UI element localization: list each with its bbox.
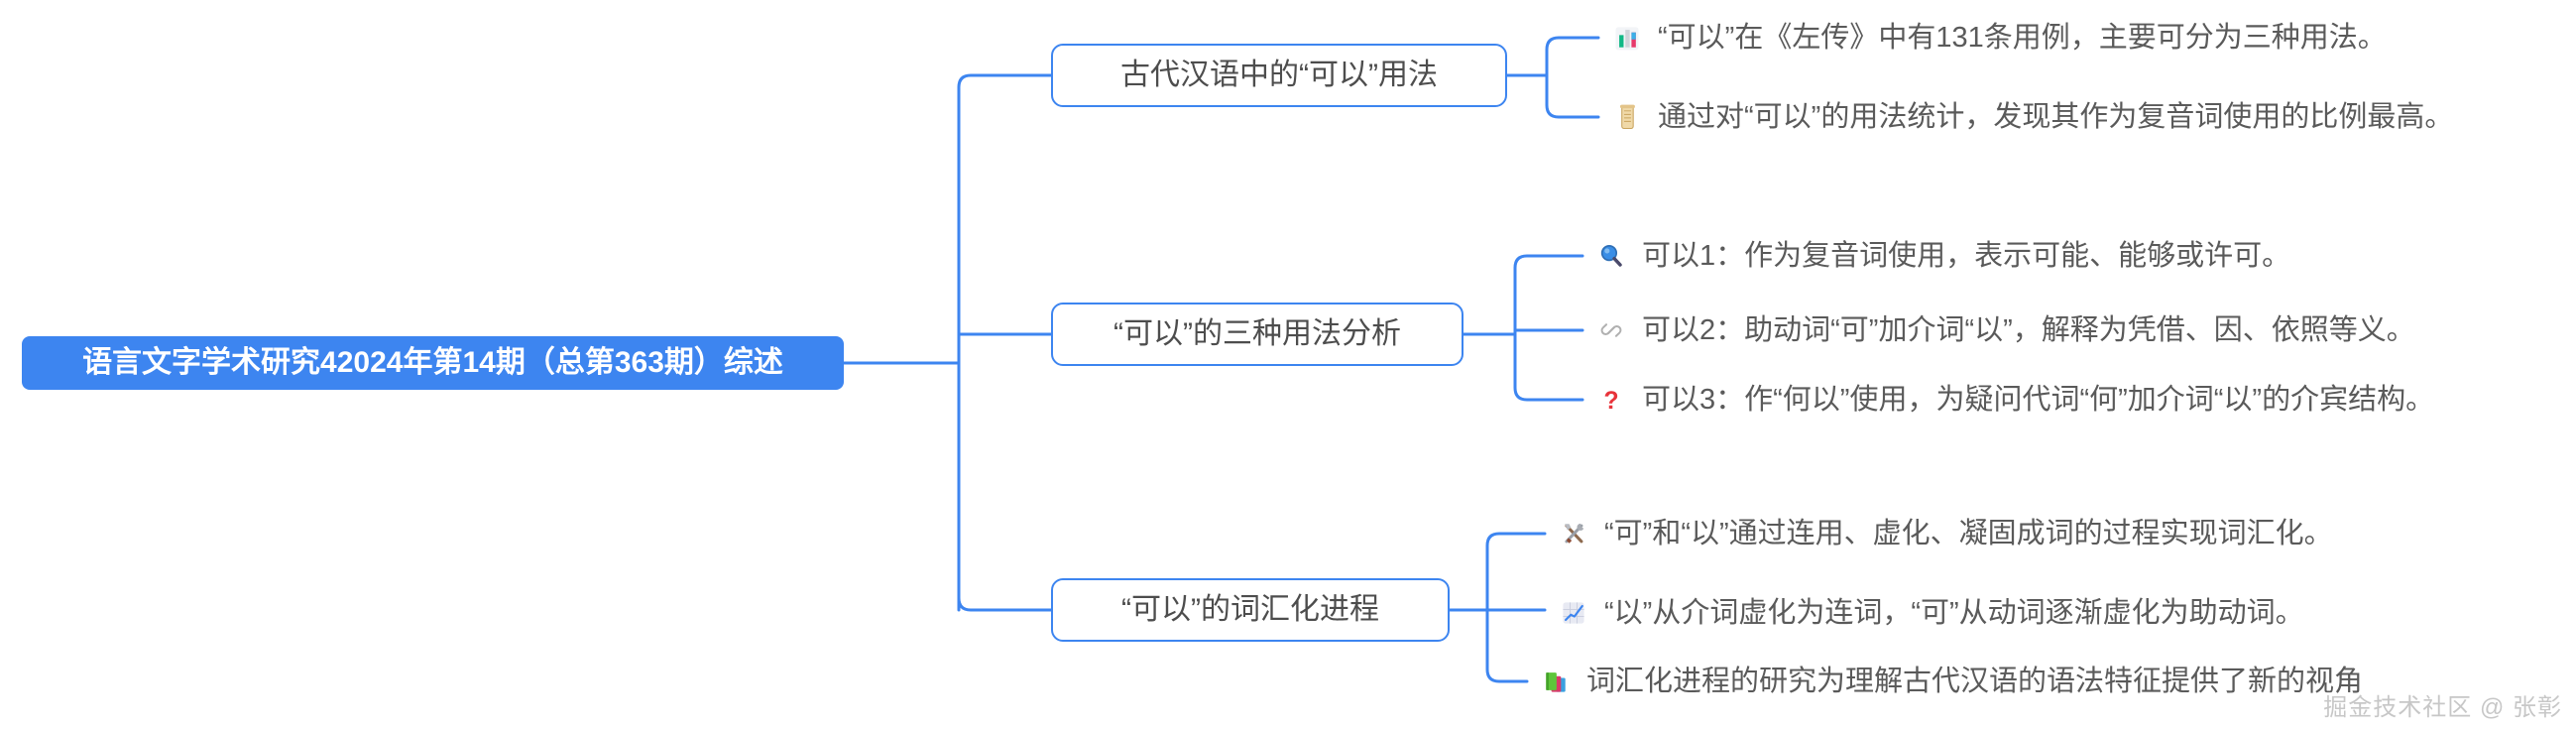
- chart-increasing-icon: [1557, 596, 1590, 630]
- leaf-node-1-2-text: 可以3：作“何以”使用，为疑问代词“何”加介词“以”的介宾结构。: [1642, 386, 2434, 415]
- leaf-node-1-0-text: 可以1：作为复音词使用，表示可能、能够或许可。: [1642, 242, 2290, 271]
- leaf-node-0-0-text: “可以”在《左传》中有131条用例，主要可分为三种用法。: [1658, 24, 2387, 53]
- leaf-node-1-1[interactable]: 可以2：助动词“可”加介词“以”，解释为凭借、因、依照等义。: [1594, 306, 2415, 354]
- branch-node-1-label: “可以”的三种用法分析: [1113, 319, 1401, 349]
- watermark: 掘金技术社区 @ 张彰: [2323, 687, 2562, 722]
- connector-spine-to-branch-1: [959, 334, 1051, 363]
- leaf-node-2-2-text: 词汇化进程的研究为理解古代汉语的语法特征提供了新的视角: [1586, 668, 2363, 696]
- branch-node-0[interactable]: 古代汉语中的“可以”用法: [1051, 44, 1507, 107]
- leaf-node-2-0[interactable]: “可”和“以”通过连用、虚化、凝固成词的过程实现词汇化。: [1557, 510, 2333, 557]
- branch-node-2[interactable]: “可以”的词汇化进程: [1051, 578, 1450, 642]
- bar-chart-icon: [1610, 21, 1644, 55]
- branch-node-1[interactable]: “可以”的三种用法分析: [1051, 303, 1464, 366]
- books-icon: [1539, 665, 1573, 698]
- leaf-node-0-1[interactable]: 通过对“可以”的用法统计，发现其作为复音词使用的比例最高。: [1610, 93, 2453, 141]
- connector-branch-2-leaf-2: [1487, 610, 1527, 681]
- connector-branch-0-leaf-0: [1547, 38, 1598, 75]
- leaf-node-2-2[interactable]: 词汇化进程的研究为理解古代汉语的语法特征提供了新的视角: [1539, 658, 2363, 705]
- leaf-node-1-2[interactable]: ? 可以3：作“何以”使用，为疑问代词“何”加介词“以”的介宾结构。: [1594, 376, 2434, 424]
- hammer-and-wrench-icon: [1557, 517, 1590, 550]
- magnifier-icon: [1594, 239, 1628, 273]
- leaf-node-1-0[interactable]: 可以1：作为复音词使用，表示可能、能够或许可。: [1594, 232, 2290, 280]
- branch-node-0-label: 古代汉语中的“可以”用法: [1120, 61, 1438, 90]
- link-icon: [1594, 313, 1628, 347]
- leaf-node-2-0-text: “可”和“以”通过连用、虚化、凝固成词的过程实现词汇化。: [1604, 520, 2333, 548]
- connector-branch-2-leaf-0: [1487, 534, 1545, 610]
- branch-node-2-label: “可以”的词汇化进程: [1121, 595, 1379, 625]
- watermark-text: 掘金技术社区 @ 张彰: [2323, 694, 2562, 721]
- question-mark-icon: ?: [1594, 383, 1628, 417]
- leaf-node-0-1-text: 通过对“可以”的用法统计，发现其作为复音词使用的比例最高。: [1658, 103, 2453, 132]
- leaf-node-1-1-text: 可以2：助动词“可”加介词“以”，解释为凭借、因、依照等义。: [1642, 316, 2415, 345]
- connector-branch-0-leaf-1: [1547, 75, 1598, 117]
- root-node-label: 语言文字学术研究42024年第14期（总第363期）综述: [82, 348, 783, 378]
- connector-branch-1-leaf-2: [1515, 334, 1582, 400]
- connector-spine-to-branch-2: [959, 363, 1051, 610]
- svg-text:?: ?: [1603, 388, 1618, 415]
- leaf-node-0-0[interactable]: “可以”在《左传》中有131条用例，主要可分为三种用法。: [1610, 14, 2387, 61]
- mindmap-canvas: 语言文字学术研究42024年第14期（总第363期）综述 古代汉语中的“可以”用…: [0, 0, 2576, 730]
- connector-branch-1-leaf-0: [1515, 256, 1582, 334]
- connector-spine-to-branch-0: [959, 75, 1051, 363]
- leaf-node-2-1-text: “以”从介词虚化为连词，“可”从动词逐渐虚化为助动词。: [1604, 599, 2304, 628]
- leaf-node-2-1[interactable]: “以”从介词虚化为连词，“可”从动词逐渐虚化为助动词。: [1557, 589, 2304, 637]
- scroll-icon: [1610, 100, 1644, 134]
- root-node[interactable]: 语言文字学术研究42024年第14期（总第363期）综述: [22, 336, 844, 390]
